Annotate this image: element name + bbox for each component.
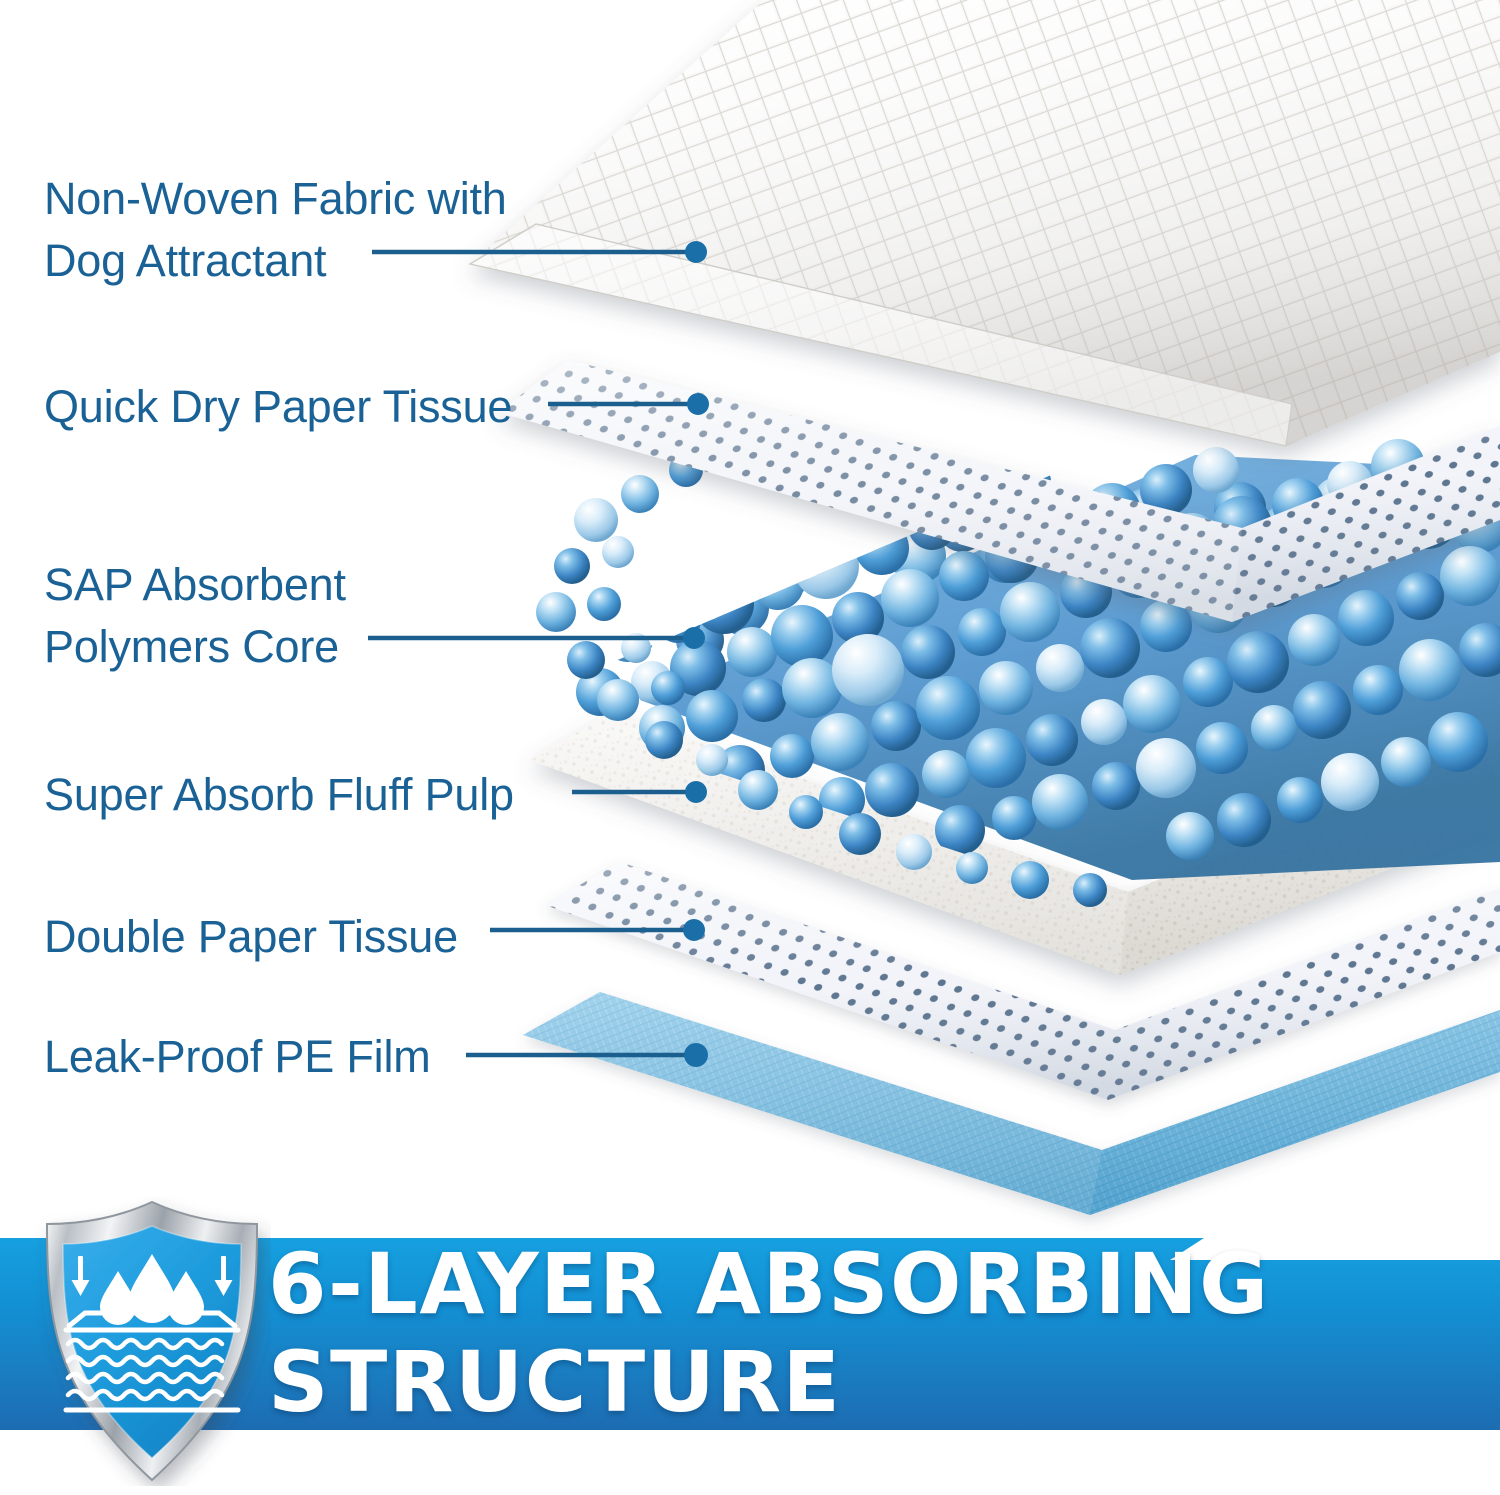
label-leak-proof-pe-film: Leak-Proof PE Film bbox=[44, 1026, 431, 1088]
leader-dot-pe-film bbox=[684, 1043, 708, 1067]
label-quick-dry-paper-tissue: Quick Dry Paper Tissue bbox=[44, 376, 512, 438]
leader-dot-non-woven-fabric bbox=[685, 241, 707, 263]
label-sap-absorbent-polymers-core: SAP Absorbent Polymers Core bbox=[44, 554, 346, 678]
leader-dot-double-paper-tissue bbox=[683, 919, 705, 941]
leader-dot-sap-core bbox=[683, 627, 705, 649]
shield-icon bbox=[33, 1196, 271, 1486]
label-non-woven-fabric: Non-Woven Fabric with Dog Attractant bbox=[44, 168, 507, 292]
banner-title: 6-LAYER ABSORBING STRUCTURE bbox=[268, 1258, 1498, 1408]
leader-dot-quick-dry-paper-tissue bbox=[687, 393, 709, 415]
leader-dot-fluff-pulp bbox=[685, 781, 707, 803]
infographic-root: Non-Woven Fabric with Dog Attractant Qui… bbox=[0, 0, 1500, 1495]
label-double-paper-tissue: Double Paper Tissue bbox=[44, 906, 458, 968]
label-super-absorb-fluff-pulp: Super Absorb Fluff Pulp bbox=[44, 764, 514, 826]
